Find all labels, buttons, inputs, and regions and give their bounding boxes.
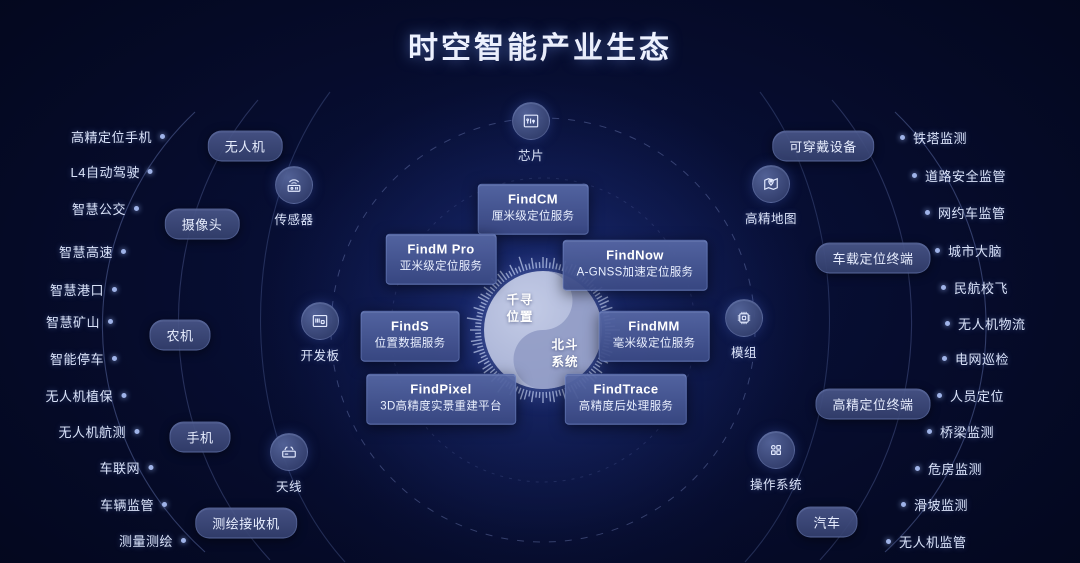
antenna-icon — [270, 433, 308, 471]
leaf-label-L4自动驾驶[interactable]: L4自动驾驶 — [71, 162, 140, 181]
leaf-connector-dot — [915, 466, 920, 471]
icon-node-高精地图[interactable]: 高精地图 — [726, 165, 816, 227]
leaf-connector-dot — [121, 393, 126, 398]
leaf-label-智能停车[interactable]: 智能停车 — [50, 349, 104, 368]
icon-node-label: 操作系统 — [731, 474, 821, 493]
leaf-label-车联网[interactable]: 车联网 — [99, 458, 140, 477]
service-name: FindPixel — [380, 382, 502, 398]
leaf-connector-dot — [942, 356, 947, 361]
pill-无人机[interactable]: 无人机 — [208, 131, 283, 162]
leaf-label-桥梁监测[interactable]: 桥梁监测 — [940, 422, 994, 441]
service-name: FindM Pro — [400, 242, 483, 258]
leaf-label-text: 智慧港口 — [50, 283, 104, 298]
leaf-label-text: 测量测绘 — [119, 534, 173, 549]
leaf-label-高精定位手机[interactable]: 高精定位手机 — [71, 127, 152, 146]
infographic-canvas: 时空智能产业生态 千寻位置 — [0, 0, 1080, 563]
leaf-label-智慧港口[interactable]: 智慧港口 — [50, 280, 104, 299]
service-box-findpixel[interactable]: FindPixel3D高精度实景重建平台 — [366, 374, 516, 425]
leaf-connector-dot — [112, 287, 117, 292]
leaf-connector-dot — [108, 319, 113, 324]
leaf-label-text: 车辆监管 — [100, 498, 154, 513]
service-description: 毫米级定位服务 — [613, 337, 696, 351]
pill-手机[interactable]: 手机 — [169, 422, 230, 453]
leaf-label-道路安全监管[interactable]: 道路安全监管 — [925, 166, 1006, 185]
leaf-label-人员定位[interactable]: 人员定位 — [950, 386, 1004, 405]
leaf-connector-dot — [941, 285, 946, 290]
icon-node-label: 高精地图 — [726, 208, 816, 227]
service-box-findcm[interactable]: FindCM厘米级定位服务 — [478, 184, 589, 235]
pill-高精定位终端[interactable]: 高精定位终端 — [815, 389, 930, 420]
pill-车载定位终端[interactable]: 车载定位终端 — [815, 243, 930, 274]
service-box-findm-pro[interactable]: FindM Pro亚米级定位服务 — [386, 234, 497, 285]
leaf-connector-dot — [937, 393, 942, 398]
leaf-label-危房监测[interactable]: 危房监测 — [928, 459, 982, 478]
leaf-label-text: 网约车监管 — [938, 206, 1006, 221]
core-label-qianxun: 千寻位置 — [484, 292, 556, 326]
icon-node-label: 天线 — [244, 476, 334, 495]
leaf-label-滑坡监测[interactable]: 滑坡监测 — [914, 495, 968, 514]
leaf-label-智慧高速[interactable]: 智慧高速 — [59, 242, 113, 261]
leaf-label-text: 道路安全监管 — [925, 169, 1006, 184]
pill-农机[interactable]: 农机 — [149, 320, 210, 351]
service-name: FindTrace — [579, 382, 673, 398]
leaf-label-无人机航测[interactable]: 无人机航测 — [58, 422, 126, 441]
leaf-label-民航校飞[interactable]: 民航校飞 — [954, 278, 1008, 297]
service-description: 厘米级定位服务 — [492, 210, 575, 224]
service-name: FindMM — [613, 319, 696, 335]
service-name: FindNow — [577, 248, 694, 264]
icon-node-label: 开发板 — [275, 345, 365, 364]
leaf-connector-dot — [925, 210, 930, 215]
leaf-connector-dot — [886, 539, 891, 544]
leaf-label-城市大脑[interactable]: 城市大脑 — [948, 241, 1002, 260]
service-description: 位置数据服务 — [375, 337, 446, 351]
icon-node-label: 芯片 — [486, 145, 576, 164]
pill-摄像头[interactable]: 摄像头 — [165, 209, 240, 240]
leaf-label-text: 民航校飞 — [954, 281, 1008, 296]
sensor-icon — [275, 166, 313, 204]
dev-board-icon — [301, 302, 339, 340]
service-description: 3D高精度实景重建平台 — [380, 400, 502, 414]
leaf-label-无人机植保[interactable]: 无人机植保 — [45, 386, 113, 405]
leaf-label-text: 车联网 — [99, 461, 140, 476]
icon-node-模组[interactable]: 模组 — [699, 299, 789, 361]
leaf-connector-dot — [148, 465, 153, 470]
leaf-connector-dot — [134, 429, 139, 434]
service-box-finds[interactable]: FindS位置数据服务 — [361, 311, 460, 362]
leaf-connector-dot — [900, 135, 905, 140]
leaf-label-测量测绘[interactable]: 测量测绘 — [119, 531, 173, 550]
service-box-findtrace[interactable]: FindTrace高精度后处理服务 — [565, 374, 687, 425]
leaf-connector-dot — [945, 321, 950, 326]
map-pin-icon — [752, 165, 790, 203]
leaf-connector-dot — [112, 356, 117, 361]
service-name: FindS — [375, 319, 446, 335]
chip-wafer-icon — [512, 102, 550, 140]
leaf-label-text: 高精定位手机 — [71, 130, 152, 145]
icon-node-天线[interactable]: 天线 — [244, 433, 334, 495]
service-description: 高精度后处理服务 — [579, 400, 673, 414]
leaf-connector-dot — [901, 502, 906, 507]
leaf-label-text: 智慧高速 — [59, 245, 113, 260]
leaf-connector-dot — [912, 173, 917, 178]
leaf-label-text: 无人机航测 — [58, 425, 126, 440]
leaf-label-text: 无人机植保 — [45, 389, 113, 404]
leaf-label-text: 滑坡监测 — [914, 498, 968, 513]
leaf-label-text: 危房监测 — [928, 462, 982, 477]
icon-node-传感器[interactable]: 传感器 — [249, 166, 339, 228]
icon-node-芯片[interactable]: 芯片 — [486, 102, 576, 164]
icon-node-开发板[interactable]: 开发板 — [275, 302, 365, 364]
leaf-label-text: 桥梁监测 — [940, 425, 994, 440]
leaf-label-text: 智慧公交 — [72, 202, 126, 217]
leaf-label-text: 电网巡检 — [955, 352, 1009, 367]
leaf-label-无人机监管[interactable]: 无人机监管 — [899, 532, 967, 551]
leaf-connector-dot — [927, 429, 932, 434]
leaf-label-text: 智能停车 — [50, 352, 104, 367]
leaf-connector-dot — [935, 248, 940, 253]
leaf-label-text: 人员定位 — [950, 389, 1004, 404]
leaf-label-text: 智慧矿山 — [46, 315, 100, 330]
service-name: FindCM — [492, 192, 575, 208]
icon-node-label: 传感器 — [249, 209, 339, 228]
service-description: A-GNSS加速定位服务 — [577, 266, 694, 280]
leaf-connector-dot — [162, 502, 167, 507]
leaf-connector-dot — [148, 169, 153, 174]
leaf-connector-dot — [121, 249, 126, 254]
leaf-label-网约车监管[interactable]: 网约车监管 — [938, 203, 1006, 222]
leaf-label-车辆监管[interactable]: 车辆监管 — [100, 495, 154, 514]
pill-测绘接收机[interactable]: 测绘接收机 — [195, 508, 297, 539]
core-label-beidou: 北斗系统 — [528, 337, 602, 371]
leaf-label-电网巡检[interactable]: 电网巡检 — [955, 349, 1009, 368]
leaf-label-智慧公交[interactable]: 智慧公交 — [72, 199, 126, 218]
grid-apps-icon — [757, 431, 795, 469]
leaf-label-text: 无人机物流 — [958, 317, 1026, 332]
leaf-connector-dot — [160, 134, 165, 139]
service-description: 亚米级定位服务 — [400, 260, 483, 274]
page-title: 时空智能产业生态 — [0, 23, 1080, 67]
leaf-label-铁塔监测[interactable]: 铁塔监测 — [913, 128, 967, 147]
leaf-label-text: L4自动驾驶 — [71, 165, 140, 180]
module-chip-icon — [725, 299, 763, 337]
pill-汽车[interactable]: 汽车 — [796, 507, 857, 538]
leaf-label-text: 铁塔监测 — [913, 131, 967, 146]
leaf-connector-dot — [181, 538, 186, 543]
pill-可穿戴设备[interactable]: 可穿戴设备 — [772, 131, 874, 162]
service-box-findmm[interactable]: FindMM毫米级定位服务 — [599, 311, 710, 362]
leaf-label-text: 无人机监管 — [899, 535, 967, 550]
service-box-findnow[interactable]: FindNowA-GNSS加速定位服务 — [563, 240, 708, 291]
icon-node-操作系统[interactable]: 操作系统 — [731, 431, 821, 493]
icon-node-label: 模组 — [699, 342, 789, 361]
leaf-label-text: 城市大脑 — [948, 244, 1002, 259]
leaf-label-无人机物流[interactable]: 无人机物流 — [958, 314, 1026, 333]
leaf-connector-dot — [134, 206, 139, 211]
leaf-label-智慧矿山[interactable]: 智慧矿山 — [46, 312, 100, 331]
